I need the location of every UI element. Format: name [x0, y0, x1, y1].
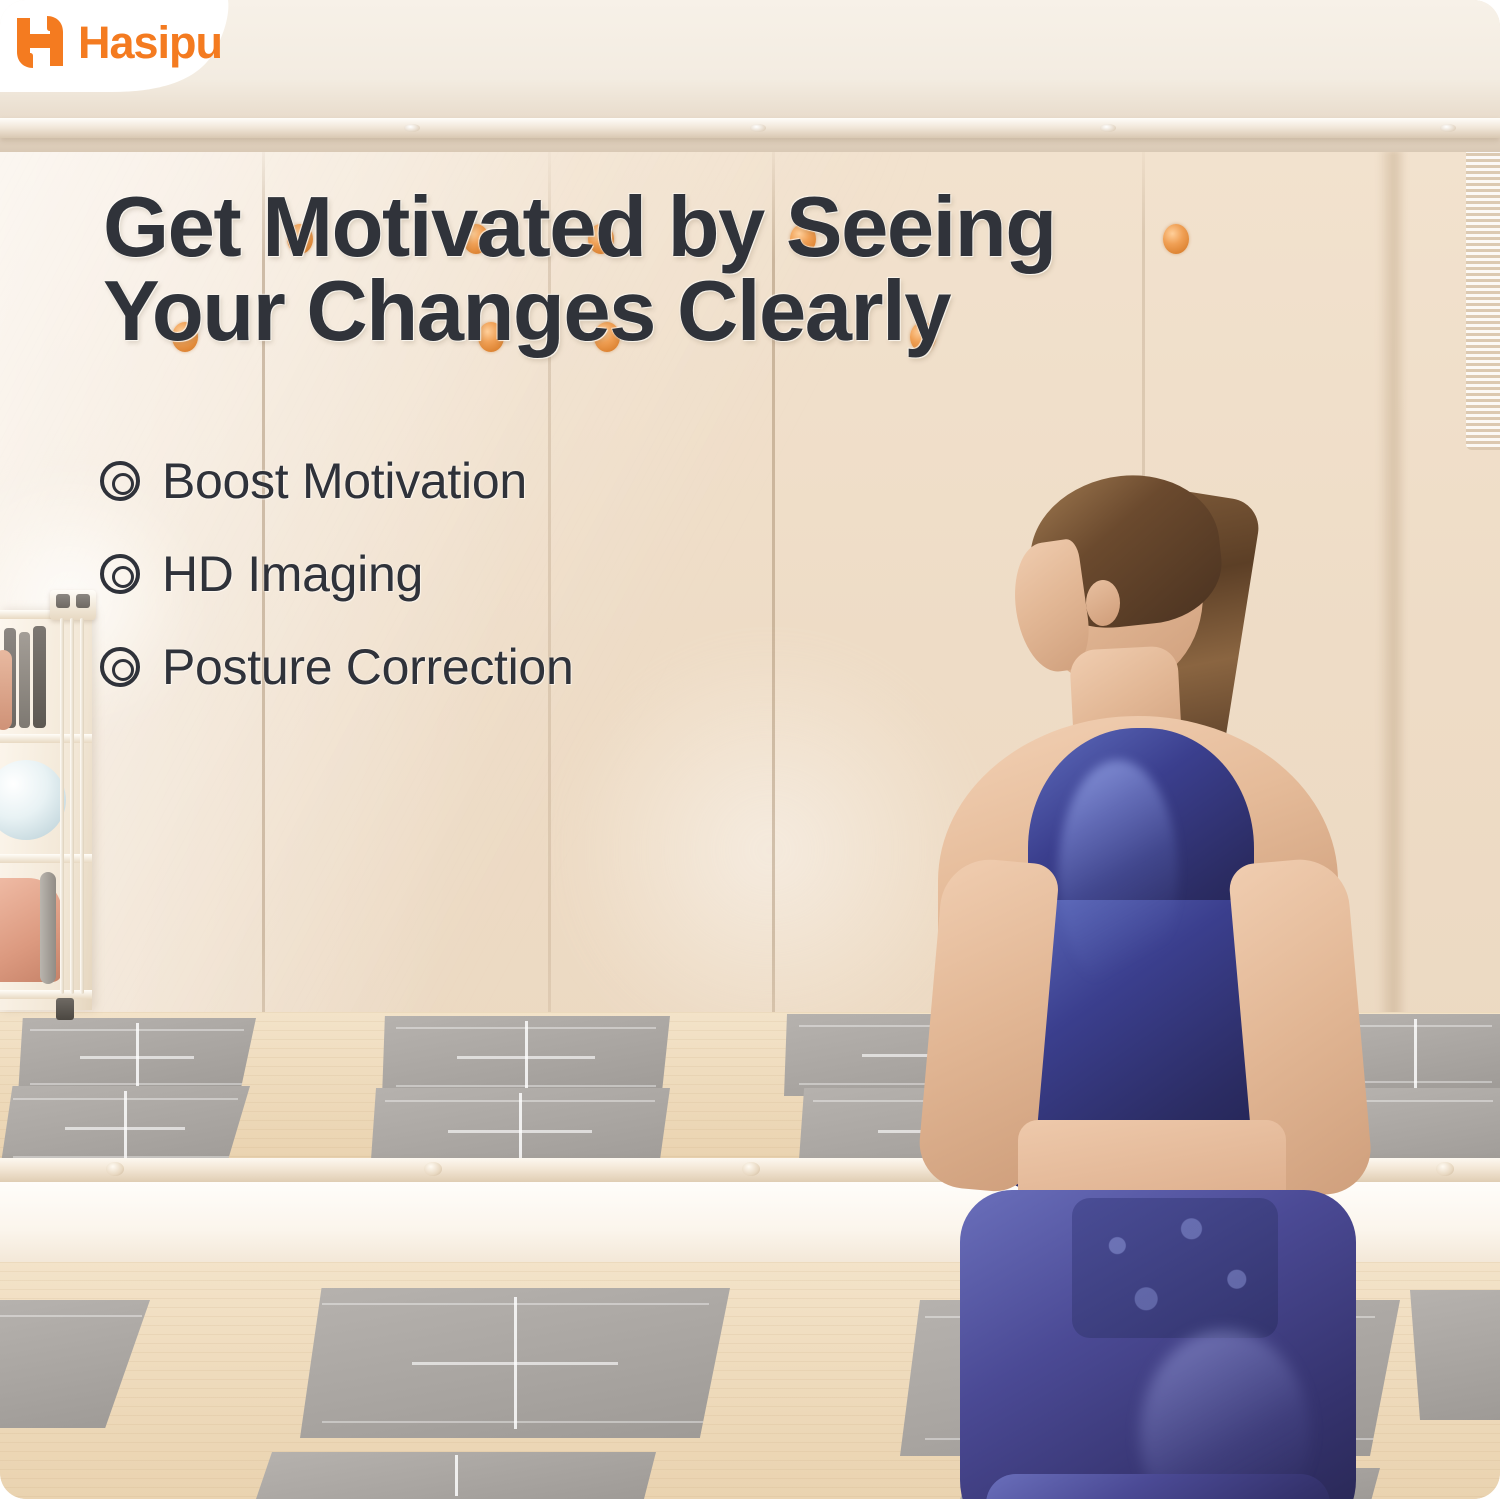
yoga-mat — [18, 1018, 256, 1096]
brand-name: Hasipu — [78, 20, 222, 65]
model-woman-back-view — [890, 430, 1410, 1499]
rack-head — [50, 590, 96, 620]
feature-label: Posture Correction — [162, 638, 573, 696]
soffit-screw — [404, 124, 420, 132]
top-highlight — [1058, 760, 1178, 990]
rack-rod — [80, 618, 84, 994]
rail-knob — [424, 1162, 442, 1176]
list-item: Posture Correction — [100, 638, 820, 696]
logo-lockup: Hasipu — [14, 12, 222, 72]
page-title: Get Motivated by Seeing Your Changes Cle… — [103, 186, 1253, 354]
yoga-mat — [1410, 1290, 1500, 1420]
rail-knob — [1436, 1162, 1454, 1176]
product-banner: Get Motivated by Seeing Your Changes Cle… — [0, 0, 1500, 1499]
yoga-mat — [256, 1452, 656, 1499]
rack-weight — [76, 594, 90, 608]
soffit-screw — [750, 124, 766, 132]
rail-knob — [106, 1162, 124, 1176]
leggings-lace-panel — [1072, 1198, 1278, 1338]
yoga-mat — [300, 1288, 730, 1438]
barbell-rack — [56, 590, 90, 1020]
brand-logo-badge: Hasipu — [0, 0, 300, 112]
rack-foot — [56, 998, 74, 1020]
double-circle-bullet-icon — [100, 461, 140, 501]
shelf-item-board — [40, 872, 56, 984]
ear — [1086, 580, 1120, 626]
shelf-item-books — [19, 632, 30, 728]
rail-knob — [742, 1162, 760, 1176]
soffit-screw — [1440, 124, 1456, 132]
list-item: Boost Motivation — [100, 452, 820, 510]
double-circle-bullet-icon — [100, 554, 140, 594]
yoga-mat — [382, 1016, 670, 1098]
shins — [986, 1474, 1330, 1499]
feature-label: Boost Motivation — [162, 452, 527, 510]
soffit-screw — [1100, 124, 1116, 132]
hasipu-interlocking-h-logo-icon — [14, 12, 66, 72]
list-item: HD Imaging — [100, 545, 820, 603]
double-circle-bullet-icon — [100, 647, 140, 687]
feature-label: HD Imaging — [162, 545, 423, 603]
window-louver — [1466, 150, 1500, 450]
rack-rod — [60, 618, 64, 994]
shelf-item-books — [33, 626, 46, 728]
rack-rod — [70, 618, 74, 994]
shelf-item-mat-roll — [0, 650, 12, 730]
rack-weight — [56, 594, 70, 608]
feature-list: Boost Motivation HD Imaging Posture Corr… — [100, 452, 820, 731]
